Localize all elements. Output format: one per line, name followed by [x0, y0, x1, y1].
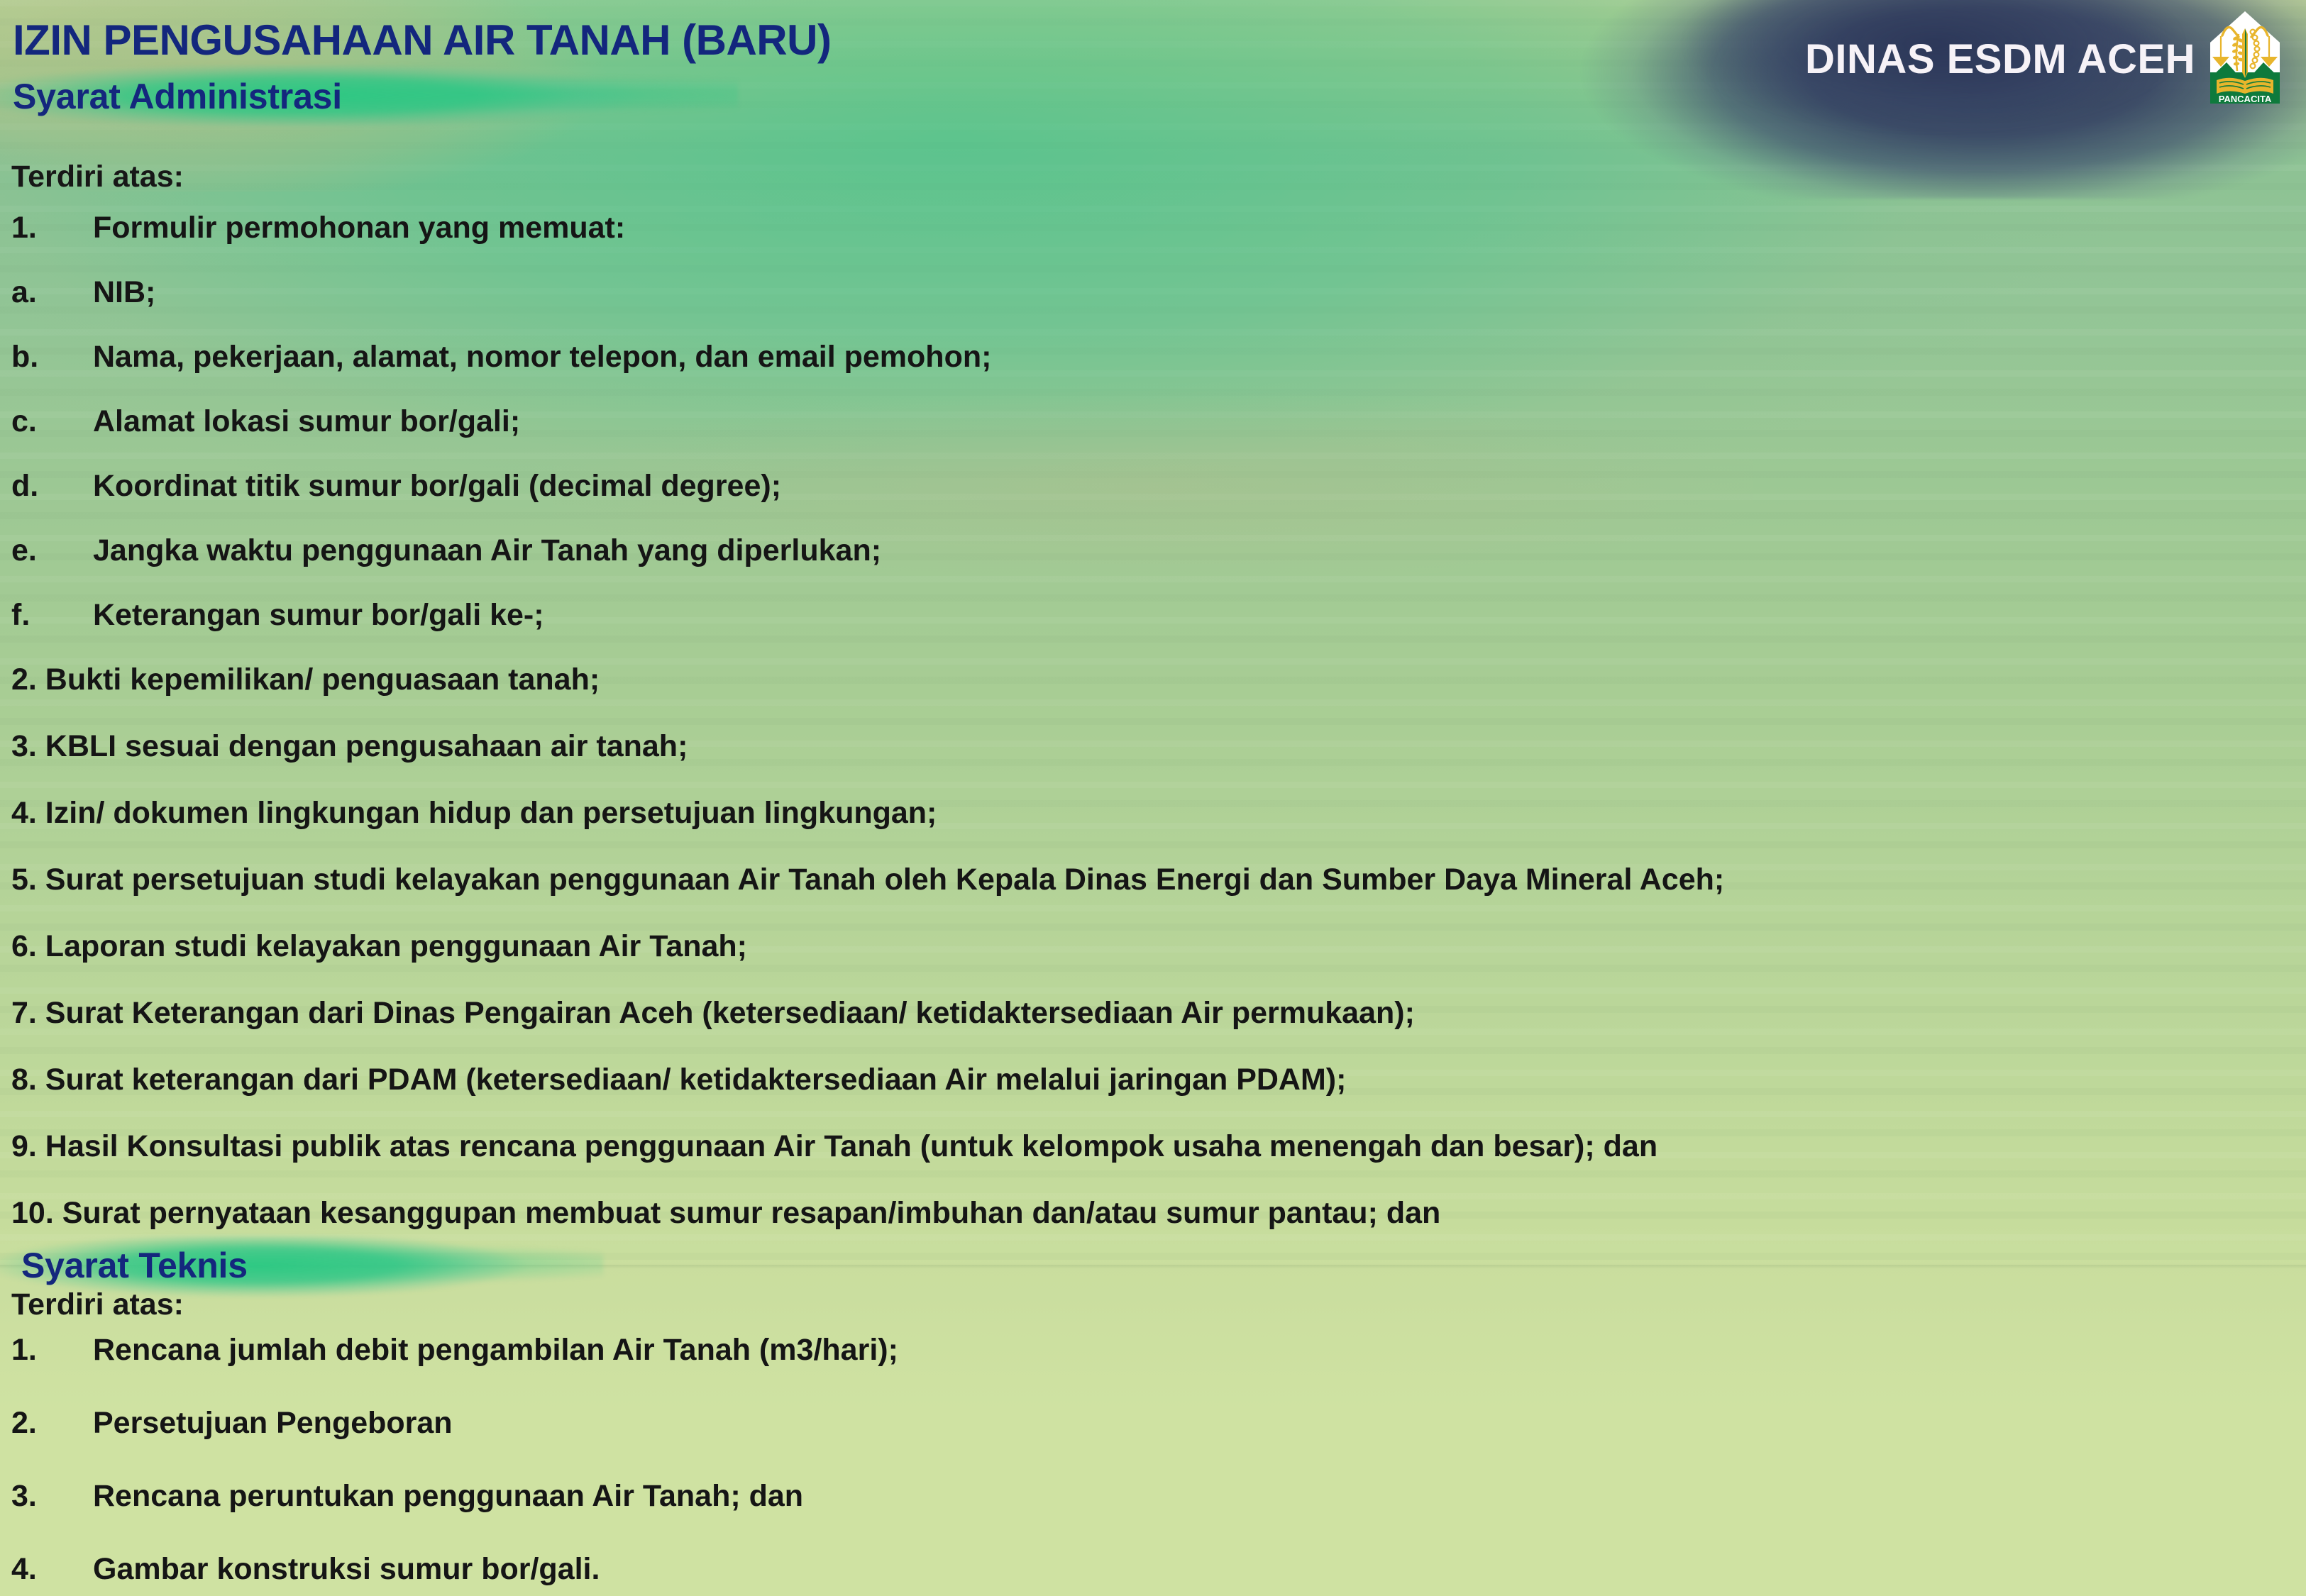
- list-item: 1.Rencana jumlah debit pengambilan Air T…: [0, 1335, 2306, 1408]
- list-item: c.Alamat lokasi sumur bor/gali;: [0, 406, 2306, 471]
- list-item-label: 8. Surat keterangan dari PDAM (ketersedi…: [11, 1065, 1346, 1095]
- background-band-edge: [0, 1265, 2306, 1269]
- list-item: 2.Persetujuan Pengeboran: [0, 1408, 2306, 1481]
- list-item-label: 5. Surat persetujuan studi kelayakan pen…: [11, 865, 1724, 895]
- list-item-marker: 1.: [11, 1335, 93, 1365]
- list-item: e.Jangka waktu penggunaan Air Tanah yang…: [0, 536, 2306, 600]
- list-item-label: 3. KBLI sesuai dengan pengusahaan air ta…: [11, 731, 688, 762]
- list-item-label: Keterangan sumur bor/gali ke-;: [93, 600, 544, 631]
- list-item-label: Rencana jumlah debit pengambilan Air Tan…: [93, 1335, 898, 1365]
- list-item-marker: 4.: [11, 1554, 93, 1585]
- list-item: f.Keterangan sumur bor/gali ke-;: [0, 600, 2306, 665]
- list-item-label: 9. Hasil Konsultasi publik atas rencana …: [11, 1131, 1657, 1162]
- list-item-marker: b.: [11, 342, 93, 372]
- list-item-label: Nama, pekerjaan, alamat, nomor telepon, …: [93, 342, 991, 372]
- list-item: 9. Hasil Konsultasi publik atas rencana …: [0, 1131, 2306, 1198]
- list-item-marker: c.: [11, 406, 93, 437]
- list-item-marker: e.: [11, 536, 93, 566]
- list-item-marker: 2.: [11, 1408, 93, 1439]
- admin-lead-text: Terdiri atas:: [11, 160, 184, 194]
- list-item-label: Alamat lokasi sumur bor/gali;: [93, 406, 520, 437]
- section-heading-teknis: Syarat Teknis: [21, 1245, 248, 1286]
- list-item-marker: f.: [11, 600, 93, 631]
- list-item-label: 6. Laporan studi kelayakan penggunaan Ai…: [11, 931, 747, 962]
- list-item: 1.Formulir permohonan yang memuat:: [0, 213, 2306, 277]
- brand-label: DINAS ESDM ACEH: [1805, 35, 2195, 83]
- list-item-marker: a.: [11, 277, 93, 308]
- pancacita-aceh-emblem-icon: PANCACITA: [2205, 10, 2285, 108]
- list-item: 7. Surat Keterangan dari Dinas Pengairan…: [0, 998, 2306, 1065]
- list-item-marker: 3.: [11, 1481, 93, 1512]
- list-item: 3.Rencana peruntukan penggunaan Air Tana…: [0, 1481, 2306, 1554]
- list-item-label: Rencana peruntukan penggunaan Air Tanah;…: [93, 1481, 803, 1512]
- list-item: 8. Surat keterangan dari PDAM (ketersedi…: [0, 1065, 2306, 1131]
- list-item-label: Persetujuan Pengeboran: [93, 1408, 453, 1439]
- list-item: 3. KBLI sesuai dengan pengusahaan air ta…: [0, 731, 2306, 798]
- list-item: 5. Surat persetujuan studi kelayakan pen…: [0, 865, 2306, 931]
- list-item: 2. Bukti kepemilikan/ penguasaan tanah;: [0, 665, 2306, 731]
- list-item-label: Koordinat titik sumur bor/gali (decimal …: [93, 471, 781, 501]
- list-item: 6. Laporan studi kelayakan penggunaan Ai…: [0, 931, 2306, 998]
- list-item-label: Formulir permohonan yang memuat:: [93, 213, 625, 243]
- list-item-marker: d.: [11, 471, 93, 501]
- list-item-marker: 1.: [11, 213, 93, 243]
- list-item: 4.Gambar konstruksi sumur bor/gali.: [0, 1554, 2306, 1596]
- header-brand: DINAS ESDM ACEH: [1805, 10, 2285, 108]
- admin-requirements-list: 1.Formulir permohonan yang memuat:a.NIB;…: [0, 213, 2306, 1265]
- list-item: a.NIB;: [0, 277, 2306, 342]
- list-item-label: 10. Surat pernyataan kesanggupan membuat…: [11, 1198, 1440, 1229]
- list-item-label: Gambar konstruksi sumur bor/gali.: [93, 1554, 600, 1585]
- section-heading-admin: Syarat Administrasi: [13, 76, 342, 117]
- list-item: 4. Izin/ dokumen lingkungan hidup dan pe…: [0, 798, 2306, 865]
- list-item-label: 2. Bukti kepemilikan/ penguasaan tanah;: [11, 665, 600, 695]
- teknis-lead-text: Terdiri atas:: [11, 1287, 184, 1322]
- teknis-requirements-list: 1.Rencana jumlah debit pengambilan Air T…: [0, 1335, 2306, 1596]
- list-item-label: 4. Izin/ dokumen lingkungan hidup dan pe…: [11, 798, 937, 829]
- logo-caption: PANCACITA: [2219, 94, 2272, 104]
- list-item: 10. Surat pernyataan kesanggupan membuat…: [0, 1198, 2306, 1265]
- list-item: d.Koordinat titik sumur bor/gali (decima…: [0, 471, 2306, 536]
- list-item-label: Jangka waktu penggunaan Air Tanah yang d…: [93, 536, 881, 566]
- list-item-label: NIB;: [93, 277, 155, 308]
- list-item-label: 7. Surat Keterangan dari Dinas Pengairan…: [11, 998, 1415, 1029]
- page-title: IZIN PENGUSAHAAN AIR TANAH (BARU): [13, 16, 831, 65]
- list-item: b.Nama, pekerjaan, alamat, nomor telepon…: [0, 342, 2306, 406]
- slide-root: DINAS ESDM ACEH: [0, 0, 2306, 1596]
